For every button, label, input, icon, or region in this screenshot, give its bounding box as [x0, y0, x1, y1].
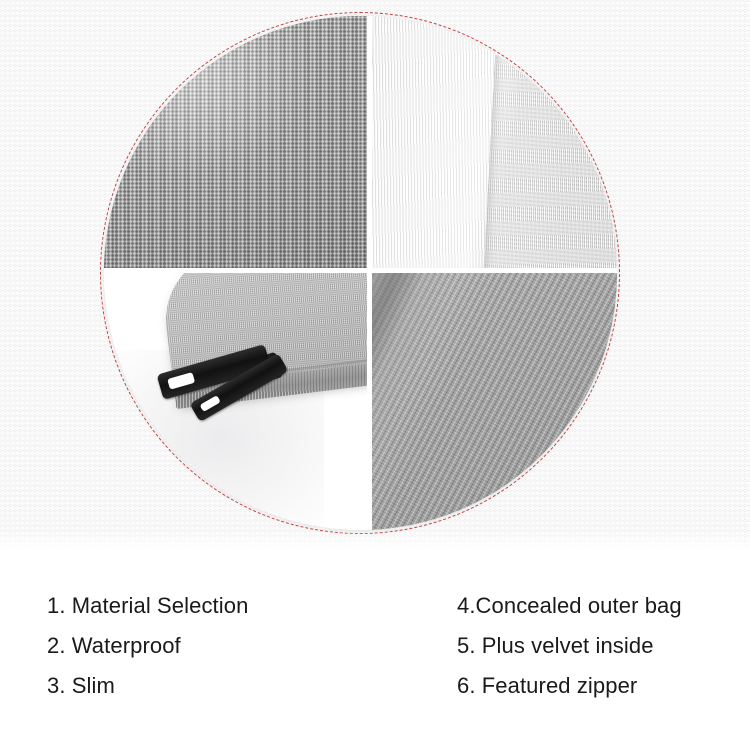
- feature-item-6: 6. Featured zipper: [457, 666, 682, 706]
- hero-panel: [0, 0, 750, 556]
- product-infographic-page: 1. Material Selection 2. Waterproof 3. S…: [0, 0, 750, 750]
- feature-item-2: 2. Waterproof: [47, 626, 248, 666]
- feature-item-3: 3. Slim: [47, 666, 248, 706]
- hero-bottom-fade: [0, 530, 750, 556]
- feature-item-5: 5. Plus velvet inside: [457, 626, 682, 666]
- feature-list: 1. Material Selection 2. Waterproof 3. S…: [0, 586, 750, 716]
- dashed-circle-outline: [100, 12, 620, 534]
- feature-item-1: 1. Material Selection: [47, 586, 248, 626]
- feature-column-right: 4.Concealed outer bag 5. Plus velvet ins…: [457, 586, 682, 706]
- feature-item-4: 4.Concealed outer bag: [457, 586, 682, 626]
- feature-column-left: 1. Material Selection 2. Waterproof 3. S…: [47, 586, 248, 706]
